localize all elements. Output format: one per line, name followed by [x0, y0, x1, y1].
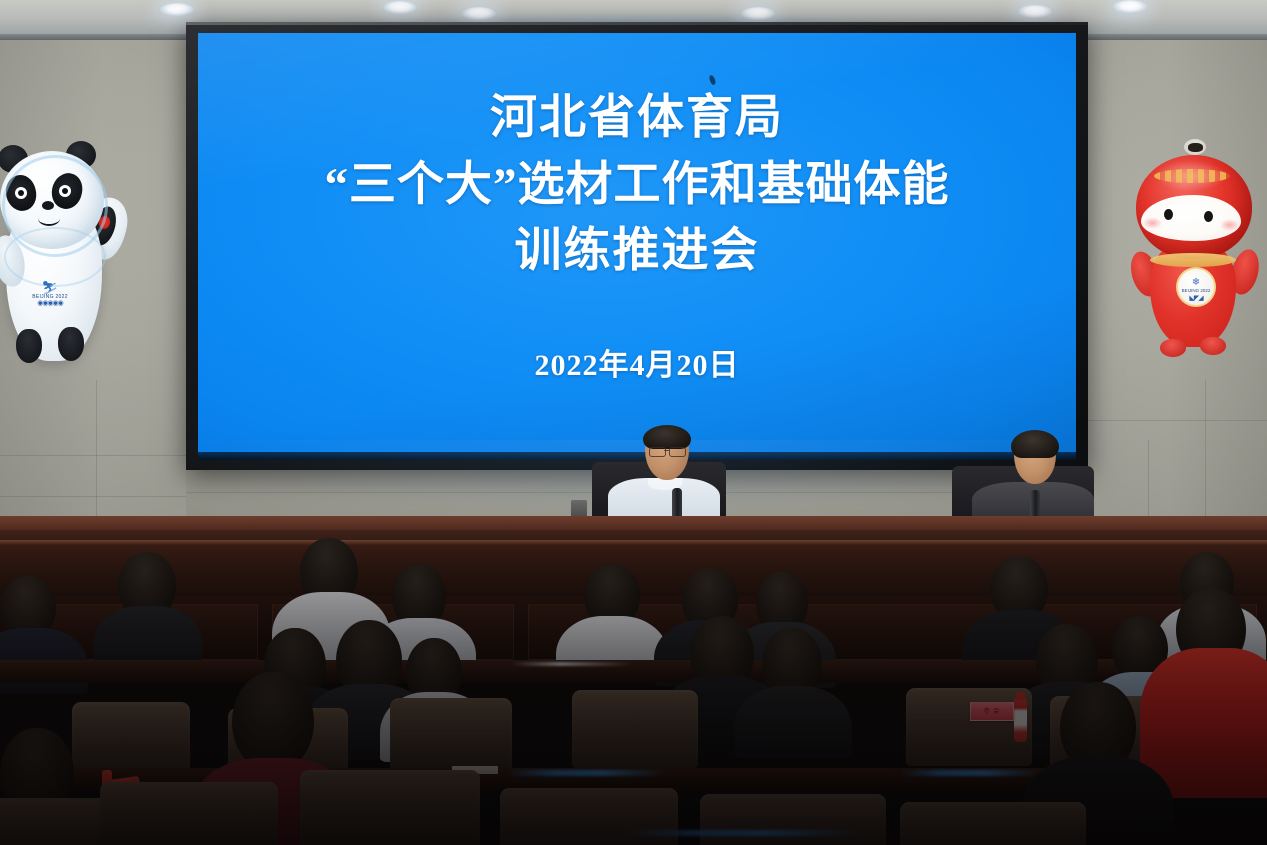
mascot-eye [1164, 209, 1173, 220]
olympic-rings-icon: ◉◉◉◉◉ [30, 300, 70, 309]
ceiling-downlight [741, 7, 775, 20]
ceiling-downlight [462, 7, 496, 20]
wall-seam [0, 455, 190, 456]
wall-seam [1205, 380, 1206, 520]
paralympic-emblem: ❄ BEIJING 2022 ◣◤◢ [1176, 267, 1216, 307]
person-shoulders [94, 606, 202, 668]
conference-room-scene: 河北省体育局 “三个大”选材工作和基础体能 训练推进会 2022年4月20日 ⛷… [0, 0, 1267, 845]
mascot-ice-shell-band [4, 227, 106, 287]
audience-chair[interactable] [900, 802, 1086, 845]
wall-seam [96, 380, 97, 520]
speaker-glasses-icon [669, 447, 686, 457]
ceiling-downlight [383, 1, 417, 14]
screen-lower-edge [198, 452, 1076, 460]
ceiling-downlight [1113, 0, 1147, 13]
ceiling-downlight [1018, 5, 1052, 18]
audience-area: 参 会 [0, 530, 1267, 845]
screen-title-line-1: 河北省体育局 [198, 85, 1076, 152]
water-bottle[interactable] [1014, 698, 1027, 742]
wall-seam [0, 496, 186, 497]
mascot-foot [1200, 337, 1226, 355]
skater-icon: ⛷ [30, 281, 70, 294]
desk-blue-reflection [900, 770, 1040, 776]
mascot-cheek-blush [1220, 219, 1239, 231]
desk-light-reflection [512, 662, 632, 666]
mascot-shuey-rhon-rhon: ❄ BEIJING 2022 ◣◤◢ [1132, 143, 1260, 377]
led-screen-display[interactable]: 河北省体育局 “三个大”选材工作和基础体能 训练推进会 2022年4月20日 [198, 33, 1076, 456]
speaker-hair [643, 425, 691, 449]
audience-chair[interactable] [500, 788, 678, 845]
snowflake-icon: ❄ [1178, 278, 1214, 288]
wall-seam [1088, 420, 1267, 421]
audience-chair[interactable] [72, 702, 190, 776]
water-bottle-cap [1016, 692, 1025, 700]
audience-chair[interactable] [100, 782, 278, 845]
mascot-bing-dwen-dwen: ⛷ BEIJING 2022 ◉◉◉◉◉ [0, 139, 126, 381]
paralympic-emblem-text: BEIJING 2022 [1178, 288, 1214, 294]
speaker-hair [1011, 430, 1059, 458]
wall-seam [1148, 440, 1149, 520]
person-head [232, 672, 314, 768]
ceiling-downlight [160, 3, 194, 16]
nameplate-audience: 参 会 [970, 702, 1014, 721]
screen-date: 2022年4月20日 [198, 340, 1076, 384]
mascot-foot [1160, 339, 1186, 357]
screen-title-line-3: 训练推进会 [198, 218, 1076, 285]
speaker-glasses-icon [649, 447, 666, 457]
desk-blue-reflection [628, 830, 858, 836]
screen-title-line-2: “三个大”选材工作和基础体能 [198, 152, 1076, 219]
audience-chair[interactable] [700, 794, 886, 845]
mascot-eye [1204, 211, 1213, 222]
mascot-leg [58, 327, 84, 361]
audience-chair[interactable] [300, 770, 480, 845]
mascot-cheek-blush [1143, 217, 1162, 229]
mascot-lantern-trim [1154, 169, 1230, 183]
desk-blue-reflection [506, 770, 666, 776]
paralympic-emblem-content: ❄ BEIJING 2022 ◣◤◢ [1178, 278, 1214, 303]
agito-icon: ◣◤◢ [1178, 294, 1214, 303]
speaker-glasses-bridge [664, 450, 669, 451]
screen-title-block: 河北省体育局 “三个大”选材工作和基础体能 训练推进会 [198, 85, 1076, 285]
person-shoulders [734, 686, 852, 758]
audience-chair[interactable] [390, 698, 512, 772]
olympic-emblem: ⛷ BEIJING 2022 ◉◉◉◉◉ [30, 281, 70, 309]
mascot-belt [1150, 253, 1236, 267]
audience-chair[interactable] [572, 690, 698, 768]
mascot-tassel-knot [1188, 143, 1203, 152]
screen-dead-pixel-mark [709, 74, 717, 85]
mascot-leg [16, 329, 42, 363]
